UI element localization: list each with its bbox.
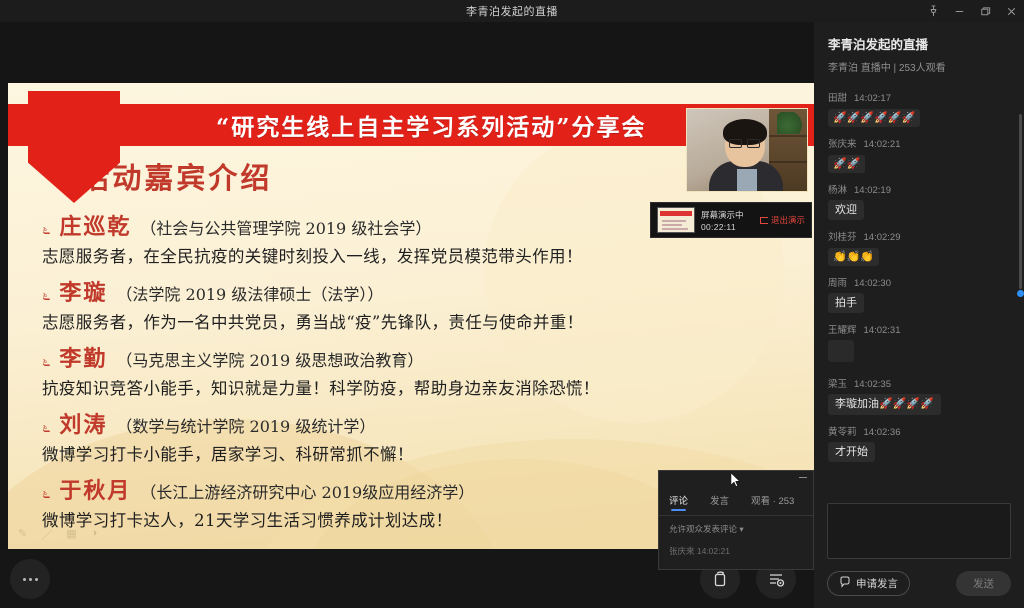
share-screen-icon	[710, 569, 730, 589]
panel-header: 李青泊发起的直播 李青泊 直播中 | 253人观看	[814, 22, 1024, 84]
swirl-icon: ೬	[42, 353, 50, 370]
guest-description: 抗疫知识竞答小能手，知识就是力量！科学防疫，帮助身边亲友消除恐慌！	[42, 375, 782, 399]
chat-scrollbar[interactable]	[1019, 114, 1022, 289]
chat-message: 张庆来 14:02:21 🚀🚀	[828, 136, 1010, 173]
message-bubble: 李璇加油🚀🚀🚀🚀	[828, 394, 941, 414]
message-bubble: 🚀🚀	[828, 155, 865, 173]
guest-meta: （法学院 2019 级法律硕士（法学））	[116, 281, 383, 305]
exit-icon	[760, 217, 768, 224]
slide-banner-title: “研究生线上自主学习系列活动”分享会	[216, 108, 646, 142]
contrast-icon[interactable]: ◑	[91, 527, 98, 543]
grid-icon[interactable]: ▦	[66, 527, 76, 543]
swirl-icon: ೬	[42, 485, 50, 502]
pip-tab-speak[interactable]: 发言	[710, 493, 729, 511]
swirl-icon: ೬	[42, 287, 50, 304]
window-controls	[927, 0, 1018, 22]
more-options-button[interactable]	[10, 559, 50, 599]
close-icon[interactable]	[1005, 5, 1018, 18]
title-bar: 李青泊发起的直播	[0, 0, 1024, 22]
guest-meta: （数学与统计学院 2019 级统计学）	[116, 413, 375, 437]
message-author: 田甜	[828, 90, 847, 104]
pip-tab-viewers[interactable]: 观看 · 253	[751, 493, 794, 511]
chat-message: 黄苓莉 14:02:36 才开始	[828, 424, 1010, 462]
webcam-glasses-right	[747, 139, 760, 148]
chat-composer: 申请发言 发送	[814, 493, 1024, 608]
share-preview-thumbnail	[657, 207, 695, 233]
guest-meta: （马克思主义学院 2019 级思想政治教育）	[116, 347, 423, 371]
guest-name: 庄巡乾	[59, 209, 131, 241]
message-author: 黄苓莉	[828, 424, 857, 438]
message-bubble: 才开始	[828, 442, 875, 462]
speech-bubble-icon	[839, 576, 851, 591]
screen-share-indicator: 屏幕演示中 00:22:11 退出演示	[650, 202, 812, 238]
message-bubble: 👏👏👏	[828, 248, 879, 266]
maximize-icon[interactable]	[979, 5, 992, 18]
chat-message: 梁玉 14:02:35 李璇加油🚀🚀🚀🚀	[828, 376, 1010, 414]
mouse-cursor-icon	[731, 473, 740, 487]
guest-entry: ೬ 刘涛 （数学与统计学院 2019 级统计学） 微博学习打卡小能手，居家学习、…	[42, 407, 782, 465]
live-chat-panel: 李青泊发起的直播 李青泊 直播中 | 253人观看 田甜 14:02:17 🚀🚀…	[814, 22, 1024, 608]
guest-description: 志愿服务者，作为一名中共党员，勇当战“疫”先锋队，责任与使命并重！	[42, 309, 782, 333]
share-status-label: 屏幕演示中	[701, 209, 744, 221]
pin-icon[interactable]	[927, 5, 940, 18]
message-author: 杨淋	[828, 182, 847, 196]
comment-pip-window[interactable]: 评论 发言 观看 · 253 允许观众发表评论 ▾ 张庆来 14:02:21	[658, 470, 814, 570]
pip-minimize-icon[interactable]	[799, 477, 807, 478]
guest-entry: ೬ 李璇 （法学院 2019 级法律硕士（法学）） 志愿服务者，作为一名中共党员…	[42, 275, 782, 333]
send-button[interactable]: 发送	[956, 571, 1011, 596]
message-time: 14:02:21	[864, 139, 901, 150]
guest-meta: （长江上游经济研究中心 2019级应用经济学）	[140, 479, 474, 503]
chat-message: 周雨 14:02:30 拍手	[828, 275, 1010, 313]
guest-description: 微博学习打卡小能手，居家学习、科研常抓不懈！	[42, 441, 782, 465]
exit-share-button[interactable]: 退出演示	[760, 214, 805, 226]
window-title: 李青泊发起的直播	[466, 3, 558, 19]
guest-name: 刘涛	[59, 407, 107, 439]
message-author: 梁玉	[828, 376, 847, 390]
webcam-person-shirt	[737, 169, 757, 191]
message-bubble: 欢迎	[828, 200, 864, 220]
message-bubble: 拍手	[828, 293, 864, 313]
pip-allow-comment-dropdown[interactable]: 允许观众发表评论 ▾	[659, 516, 813, 535]
swirl-icon: ೬	[42, 221, 50, 238]
exit-share-label: 退出演示	[771, 214, 805, 226]
pip-last-message: 张庆来 14:02:21	[659, 535, 813, 557]
message-bubble: 🚀🚀🚀🚀🚀🚀	[828, 109, 920, 127]
chat-input[interactable]	[827, 503, 1011, 559]
message-bubble-empty	[828, 340, 854, 362]
guest-name: 李璇	[59, 275, 107, 307]
chat-message: 王耀辉 14:02:31	[828, 322, 1010, 367]
list-icon	[766, 569, 786, 589]
request-to-speak-button[interactable]: 申请发言	[827, 571, 910, 596]
request-to-speak-label: 申请发言	[856, 576, 898, 591]
message-time: 14:02:35	[854, 379, 891, 390]
message-author: 周雨	[828, 275, 847, 289]
share-timer: 00:22:11	[701, 222, 744, 232]
pip-tab-comments[interactable]: 评论	[669, 493, 688, 511]
more-icon	[23, 578, 38, 581]
slide-mini-toolbar[interactable]: ✎ ／ ▦ ◑	[18, 527, 97, 543]
chat-message: 田甜 14:02:17 🚀🚀🚀🚀🚀🚀	[828, 90, 1010, 127]
minimize-icon[interactable]	[953, 5, 966, 18]
chat-message: 刘桂芬 14:02:29 👏👏👏	[828, 229, 1010, 266]
message-author: 刘桂芬	[828, 229, 857, 243]
guest-meta: （社会与公共管理学院 2019 级社会学）	[140, 215, 431, 239]
webcam-plant	[777, 112, 803, 134]
message-time: 14:02:17	[854, 93, 891, 104]
message-time: 14:02:36	[864, 427, 901, 438]
pip-titlebar	[659, 471, 813, 493]
message-author: 王耀辉	[828, 322, 857, 336]
chat-message: 杨淋 14:02:19 欢迎	[828, 182, 1010, 220]
message-time: 14:02:19	[854, 185, 891, 196]
pip-tabs[interactable]: 评论 发言 观看 · 253	[659, 493, 813, 511]
webcam-glasses-left	[729, 139, 742, 148]
chat-message-list[interactable]: 田甜 14:02:17 🚀🚀🚀🚀🚀🚀 张庆来 14:02:21 🚀🚀 杨淋 14…	[814, 84, 1024, 493]
message-author: 张庆来	[828, 136, 857, 150]
message-time: 14:02:30	[854, 278, 891, 289]
guest-name: 李勤	[59, 341, 107, 373]
pen-icon[interactable]: ✎	[18, 527, 27, 543]
guest-entry: ೬ 李勤 （马克思主义学院 2019 级思想政治教育） 抗疫知识竞答小能手，知识…	[42, 341, 782, 399]
guest-name: 于秋月	[59, 473, 131, 505]
meeting-stage: “研究生线上自主学习系列活动”分享会 ೬ 活动嘉宾介绍 ೬ 庄巡乾 （社会与公共…	[0, 22, 814, 608]
panel-title: 李青泊发起的直播	[828, 34, 1010, 53]
scroll-indicator-dot[interactable]	[1017, 290, 1024, 297]
panel-subtitle: 李青泊 直播中 | 253人观看	[828, 59, 1010, 74]
swirl-icon: ೬	[42, 419, 50, 436]
pointer-icon[interactable]: ／	[41, 527, 52, 543]
presenter-webcam[interactable]	[686, 108, 808, 192]
message-time: 14:02:31	[864, 325, 901, 336]
live-streaming-window: 李青泊发起的直播 “研究生线上自主学习系列活动”分享会	[0, 0, 1024, 608]
guest-description: 志愿服务者，在全民抗疫的关键时刻投入一线，发挥党员模范带头作用！	[42, 243, 782, 267]
message-time: 14:02:29	[864, 232, 901, 243]
